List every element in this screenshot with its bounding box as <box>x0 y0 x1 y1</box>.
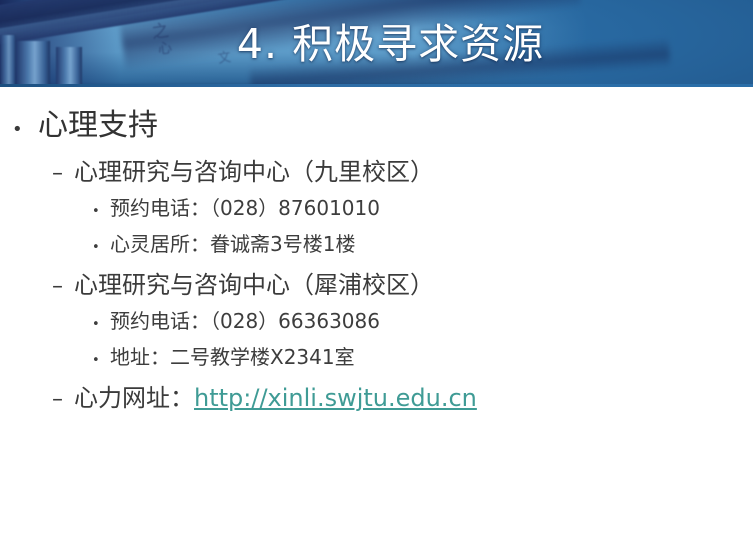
bullet-level2-label: 心理研究与咨询中心（犀浦校区） <box>74 271 434 299</box>
dash-marker-icon: – <box>52 273 74 301</box>
bullet-dot-icon: • <box>12 113 38 147</box>
bullet-level3-address-xipu: • 地址：二号教学楼X2341室 <box>92 345 753 373</box>
bullet-level2-label: 心理研究与咨询中心（九里校区） <box>74 158 434 186</box>
bullet-level1-label: 心理支持 <box>38 109 158 143</box>
slide-root: 之 心 文 4. 积极寻求资源 • 心理支持 – 心理研究与咨询中心（九里校区）… <box>0 0 753 549</box>
bullet-level3-label: 预约电话：（028）66363086 <box>110 309 380 333</box>
bullet-level3-phone-jiuli: • 预约电话：（028）87601010 <box>92 196 753 224</box>
website-url-link[interactable]: http://xinli.swjtu.edu.cn <box>194 384 477 412</box>
website-label: 心力网址： <box>74 384 194 412</box>
page-title: 4. 积极寻求资源 <box>0 18 753 70</box>
small-dot-icon: • <box>92 236 110 260</box>
bullet-level3-label: 地址：二号教学楼X2341室 <box>110 345 355 369</box>
bullet-level2-website: – 心力网址： http://xinli.swjtu.edu.cn <box>52 384 753 414</box>
bullet-level2-center-jiuli: – 心理研究与咨询中心（九里校区） <box>52 158 753 188</box>
dash-marker-icon: – <box>52 160 74 188</box>
bullet-level1-psych-support: • 心理支持 <box>12 109 753 147</box>
small-dot-icon: • <box>92 349 110 373</box>
small-dot-icon: • <box>92 200 110 224</box>
small-dot-icon: • <box>92 313 110 337</box>
bullet-level3-label: 预约电话：（028）87601010 <box>110 196 380 220</box>
slide-header-banner: 之 心 文 4. 积极寻求资源 <box>0 0 753 87</box>
bullet-level3-location-jiuli: • 心灵居所：眷诚斋3号楼1楼 <box>92 232 753 260</box>
dash-marker-icon: – <box>52 386 74 414</box>
bullet-level3-label: 心灵居所：眷诚斋3号楼1楼 <box>110 232 355 256</box>
slide-content: • 心理支持 – 心理研究与咨询中心（九里校区） • 预约电话：（028）876… <box>0 87 753 549</box>
bullet-level3-phone-xipu: • 预约电话：（028）66363086 <box>92 309 753 337</box>
bullet-level2-center-xipu: – 心理研究与咨询中心（犀浦校区） <box>52 271 753 301</box>
